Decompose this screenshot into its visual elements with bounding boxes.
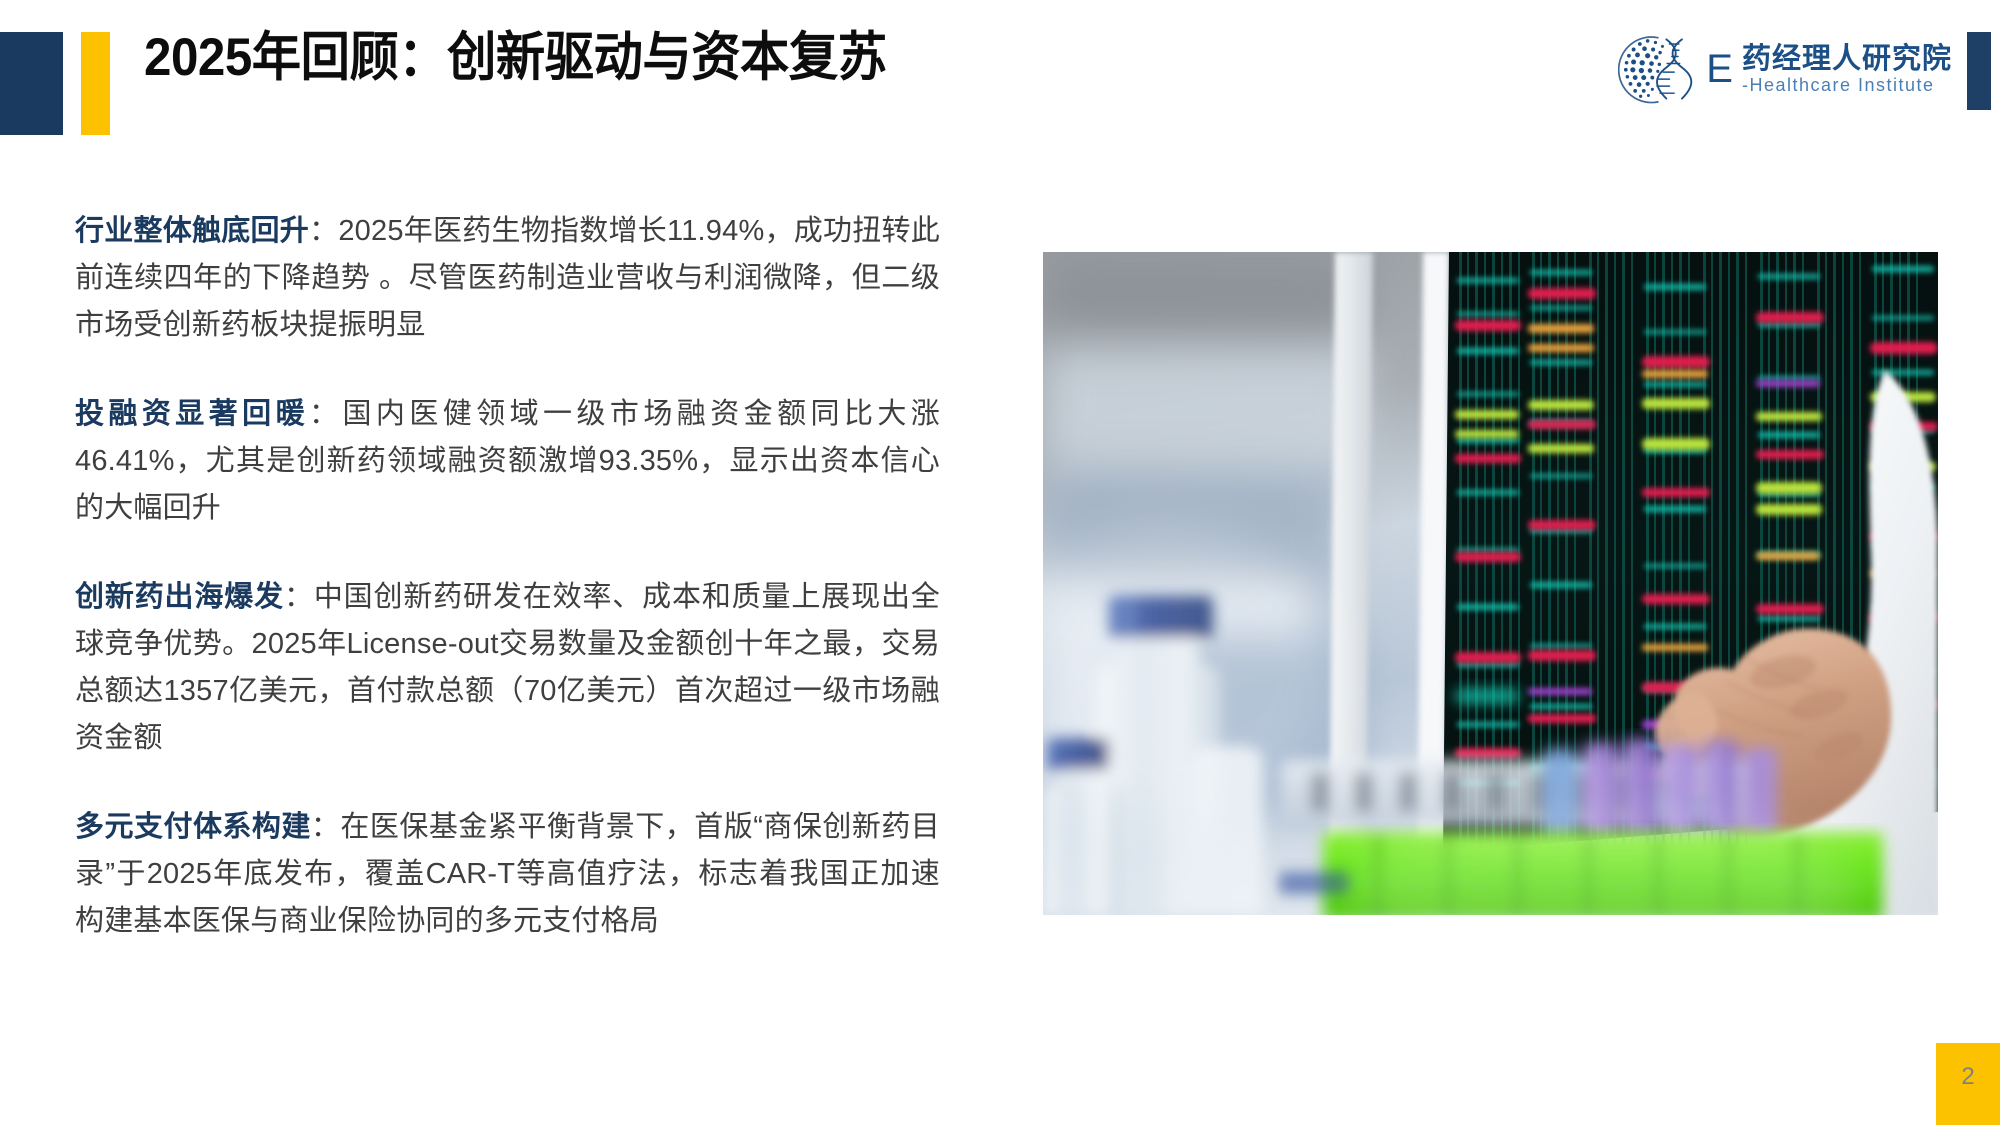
globe-dna-icon [1618, 30, 1696, 108]
brand-name-cn: 药经理人研究院 [1742, 45, 1952, 74]
bullet-paragraph: 创新药出海爆发：中国创新药研发在效率、成本和质量上展现出全球竞争优势。2025年… [75, 574, 940, 762]
brand-logo: E 药经理人研究院 -Healthcare Institute [1618, 30, 1952, 108]
bullet-label: 多元支付体系构建 [75, 811, 311, 843]
header-navy-accent-block [0, 32, 63, 135]
bullet-paragraph: 多元支付体系构建：在医保基金紧平衡背景下，首版“商保创新药目录”于2025年底发… [75, 804, 940, 945]
bullet-paragraph: 行业整体触底回升：2025年医药生物指数增长11.94%，成功扭转此前连续四年的… [75, 208, 940, 349]
bullet-separator: ： [309, 398, 342, 430]
bullet-separator: ： [311, 811, 341, 843]
header-right-accent-bar [1967, 32, 1991, 110]
brand-name-en: -Healthcare Institute [1742, 76, 1952, 94]
brand-initial: E [1706, 49, 1734, 89]
content-text-column: 行业整体触底回升：2025年医药生物指数增长11.94%，成功扭转此前连续四年的… [75, 208, 940, 945]
bullet-separator: ： [309, 215, 338, 247]
page-title: 2025年回顾：创新驱动与资本复苏 [144, 29, 887, 87]
brand-logo-text: E 药经理人研究院 -Healthcare Institute [1706, 45, 1952, 94]
bullet-label: 创新药出海爆发 [75, 581, 284, 613]
bullet-label: 投融资显著回暖 [75, 398, 309, 430]
bullet-paragraph: 投融资显著回暖：国内医健领域一级市场融资金额同比大涨46.41%，尤其是创新药领… [75, 391, 940, 532]
header-yellow-accent-bar [81, 32, 110, 135]
page-number: 2 [1948, 1065, 1988, 1089]
dna-sequencing-lab-photo [1043, 252, 1938, 915]
bullet-label: 行业整体触底回升 [75, 215, 309, 247]
bullet-separator: ： [284, 581, 314, 613]
